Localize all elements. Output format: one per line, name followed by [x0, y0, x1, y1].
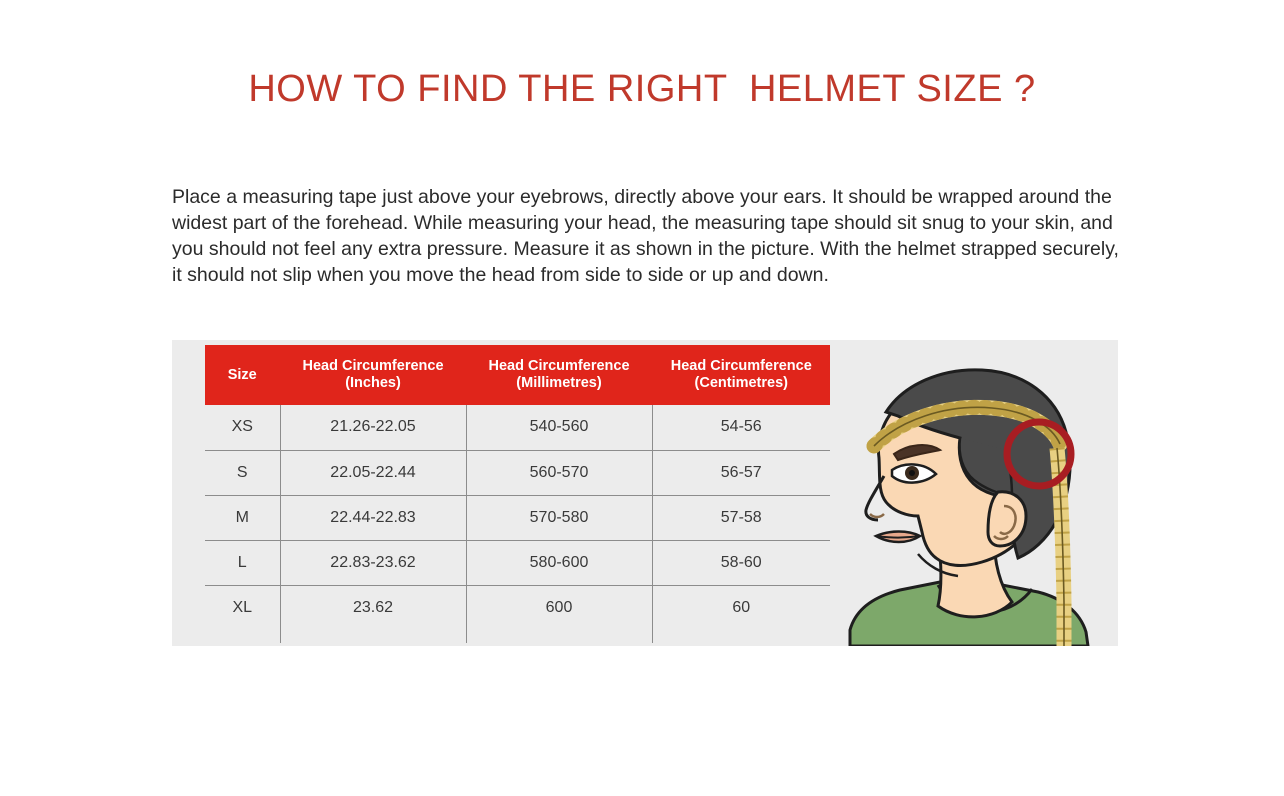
- column-header-centimetres: Head Circumference (Centimetres): [652, 345, 830, 405]
- table-row: XL 23.62 600 60: [205, 585, 830, 630]
- size-chart-panel: Size Head Circumference (Inches) Head Ci…: [172, 340, 1118, 646]
- cell-cm: 54-56: [652, 405, 830, 450]
- table-row: L 22.83-23.62 580-600 58-60: [205, 540, 830, 585]
- table-row: S 22.05-22.44 560-570 56-57: [205, 450, 830, 495]
- table-column-divider: [466, 405, 467, 643]
- page-title: HOW TO FIND THE RIGHT HELMET SIZE ?: [0, 68, 1284, 111]
- cell-cm: 58-60: [652, 540, 830, 585]
- cell-inches: 22.44-22.83: [280, 495, 466, 540]
- column-header-centimetres-unit: (Centimetres): [695, 375, 788, 391]
- cell-mm: 540-560: [466, 405, 652, 450]
- column-header-inches-unit: (Inches): [345, 375, 401, 391]
- column-header-millimetres-unit: (Millimetres): [516, 375, 601, 391]
- helmet-size-guide-page: HOW TO FIND THE RIGHT HELMET SIZE ? Plac…: [0, 0, 1284, 796]
- head-profile-drawing: [842, 340, 1118, 646]
- size-table-container: Size Head Circumference (Inches) Head Ci…: [205, 345, 830, 643]
- table-row: M 22.44-22.83 570-580 57-58: [205, 495, 830, 540]
- column-header-size: Size: [205, 345, 280, 405]
- column-header-millimetres: Head Circumference (Millimetres): [466, 345, 652, 405]
- cell-mm: 560-570: [466, 450, 652, 495]
- cell-mm: 600: [466, 585, 652, 630]
- cell-mm: 580-600: [466, 540, 652, 585]
- cell-cm: 60: [652, 585, 830, 630]
- size-table-header: Size Head Circumference (Inches) Head Ci…: [205, 345, 830, 405]
- table-column-divider: [280, 405, 281, 643]
- header-row: Size Head Circumference (Inches) Head Ci…: [205, 345, 830, 405]
- column-header-inches-label: Head Circumference: [302, 358, 443, 374]
- cell-cm: 56-57: [652, 450, 830, 495]
- table-column-divider: [652, 405, 653, 643]
- size-table-body: XS 21.26-22.05 540-560 54-56 S 22.05-22.…: [205, 405, 830, 630]
- column-header-inches: Head Circumference (Inches): [280, 345, 466, 405]
- cell-inches: 22.05-22.44: [280, 450, 466, 495]
- column-header-size-label: Size: [228, 367, 257, 383]
- cell-inches: 21.26-22.05: [280, 405, 466, 450]
- cell-cm: 57-58: [652, 495, 830, 540]
- cell-mm: 570-580: [466, 495, 652, 540]
- table-row: XS 21.26-22.05 540-560 54-56: [205, 405, 830, 450]
- size-table: Size Head Circumference (Inches) Head Ci…: [205, 345, 830, 630]
- intro-paragraph: Place a measuring tape just above your e…: [172, 184, 1120, 288]
- cell-size: L: [205, 540, 280, 585]
- column-header-millimetres-label: Head Circumference: [488, 358, 629, 374]
- cell-inches: 22.83-23.62: [280, 540, 466, 585]
- cell-size: XS: [205, 405, 280, 450]
- cell-size: XL: [205, 585, 280, 630]
- cell-size: M: [205, 495, 280, 540]
- pupil-shape: [909, 470, 915, 476]
- head-measurement-illustration: [842, 340, 1118, 646]
- column-header-centimetres-label: Head Circumference: [671, 358, 812, 374]
- cell-inches: 23.62: [280, 585, 466, 630]
- cell-size: S: [205, 450, 280, 495]
